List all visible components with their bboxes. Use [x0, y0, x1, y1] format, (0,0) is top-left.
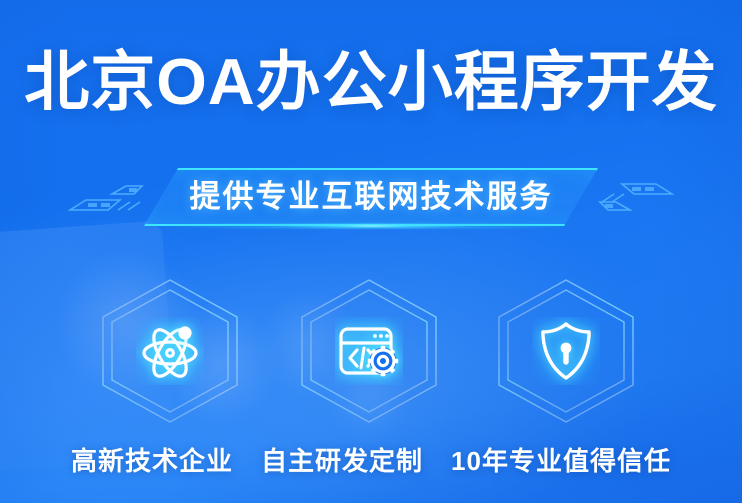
page-title: 北京OA办公小程序开发 — [0, 47, 742, 117]
shield-lock-icon — [532, 317, 600, 385]
promo-banner: 北京OA办公小程序开发 提供专业互联网技术服务 — [0, 0, 742, 503]
feature-hexagon-row — [0, 276, 742, 426]
feature-label-row: 高新技术企业 自主研发定制 10年专业值得信任 — [0, 441, 742, 478]
feature-label-0: 高新技术企业 — [71, 441, 233, 478]
subtitle-banner: 提供专业互联网技术服务 — [0, 168, 742, 230]
feature-hexagon-1[interactable] — [292, 276, 446, 426]
feature-hexagon-0[interactable] — [93, 276, 247, 426]
atom-icon — [136, 317, 204, 385]
feature-hexagon-2[interactable] — [489, 276, 643, 426]
code-window-gear-icon — [335, 317, 403, 385]
feature-label-1: 自主研发定制 — [261, 441, 423, 478]
tech-lines-right-decoration — [588, 180, 674, 218]
feature-label-2: 10年专业值得信任 — [451, 441, 671, 478]
subtitle-glow-line — [156, 223, 586, 229]
